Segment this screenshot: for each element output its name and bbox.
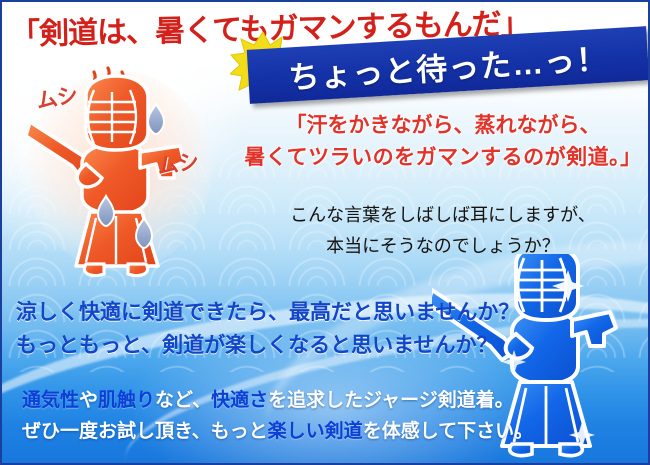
closing-plain-text: を追求したジャージ剣道着。	[268, 390, 514, 411]
closing-plain-text: を体感して下さい。	[363, 421, 533, 442]
closing-highlight-text: 快適さ	[211, 390, 268, 411]
closing-highlight-text: 肌触り	[98, 390, 155, 411]
quote-block: 「汗をかきながら、蒸れながら、 暑くてツラいのをガマンするのが剣道。」	[238, 110, 648, 174]
closing-line-1: 通気性や肌触りなど、快適さを追求したジャージ剣道着。	[22, 385, 532, 416]
promo-banner: ムシ ムシ	[0, 0, 650, 465]
closing-plain-text: など、	[155, 390, 211, 411]
closing-plain-text: や	[79, 390, 98, 411]
sound-effect-muggy-2: ムシ	[155, 145, 201, 181]
pitch-line-1: 涼しく快適に剣道できたら、最高だと思いませんか？	[16, 296, 516, 329]
closing-highlight-text: 楽しい剣道	[268, 421, 363, 442]
closing-plain-text: ぜひ一度お試し頂き、もっと	[22, 421, 268, 442]
closing-line-2: ぜひ一度お試し頂き、もっと楽しい剣道を体感して下さい。	[22, 416, 532, 447]
pitch-line-2: もっともっと、剣道が楽しくなると思いませんか？	[16, 329, 516, 362]
closing-highlight-text: 通気性	[22, 390, 79, 411]
intro-block: こんな言葉をしばしば耳にしますが、 本当にそうなのでしょうか？	[238, 200, 648, 262]
quote-line-1: 「汗をかきながら、蒸れながら、	[238, 110, 648, 142]
intro-line-1: こんな言葉をしばしば耳にしますが、	[238, 200, 648, 231]
closing-block: 通気性や肌触りなど、快適さを追求したジャージ剣道着。 ぜひ一度お試し頂き、もっと…	[22, 385, 532, 447]
pitch-block: 涼しく快適に剣道できたら、最高だと思いませんか？ もっともっと、剣道が楽しくなる…	[16, 296, 516, 362]
intro-line-2: 本当にそうなのでしょうか？	[238, 231, 648, 262]
quote-line-2: 暑くてツラいのをガマンするのが剣道。」	[238, 142, 648, 174]
